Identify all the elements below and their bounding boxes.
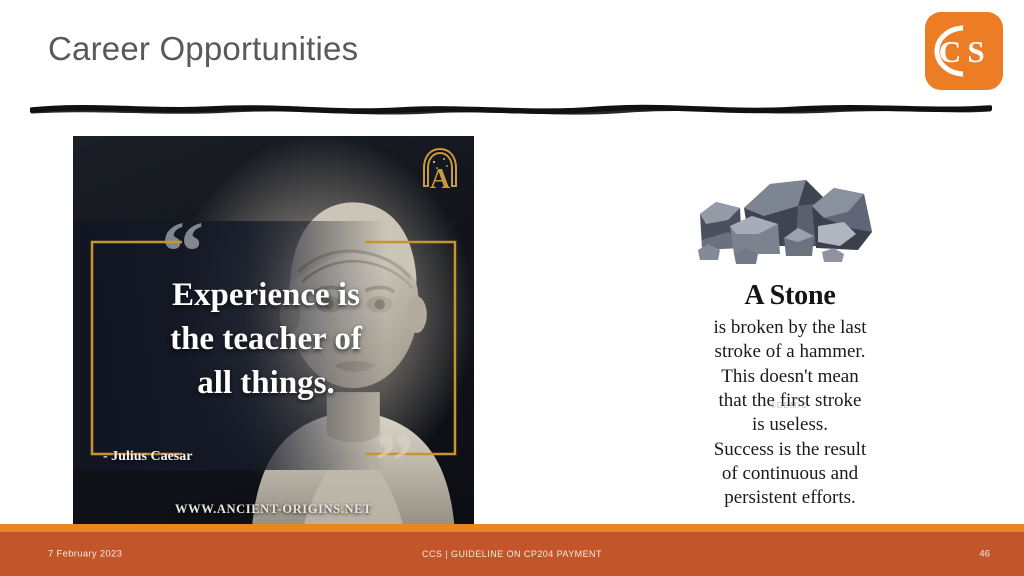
quote-author: - Julius Caesar [103,449,192,465]
watermark-text: ©DEMIC [770,401,808,410]
hand-drawn-divider [30,96,992,122]
ancient-origins-emblem-icon: A [418,144,462,194]
footer-bar: 7 February 2023 CCS | GUIDELINE ON CP204… [0,532,1024,576]
stone-line: Success is the result [660,438,920,462]
page-title: Career Opportunities [48,30,358,68]
footer-page-number: 46 [979,549,990,560]
stone-line: stroke of a hammer. [660,340,920,364]
quote-line-2: the teacher of [101,318,431,362]
stone-quote-panel: A Stone is broken by the last stroke of … [660,168,920,513]
stone-heading: A Stone [660,280,920,312]
quote-line-3: all things. [101,362,431,406]
footer-title: CCS | GUIDELINE ON CP204 PAYMENT [0,549,1024,559]
stone-line: persistent efforts. [660,486,920,510]
quote-text: Experience is the teacher of all things. [101,274,431,406]
ccs-logo[interactable]: C S [925,12,1003,90]
svg-text:C: C [939,34,961,69]
svg-text:A: A [430,164,451,194]
stone-body-text: is broken by the last stroke of a hammer… [660,316,920,511]
caesar-quote-image: A “ Experience is the teacher of all thi… [73,136,474,524]
stone-line: This doesn't mean [660,365,920,389]
stone-line: of continuous and [660,462,920,486]
stone-line: is useless. [660,413,920,437]
divider-stroke [30,96,992,122]
ccs-logo-mark: C S [925,12,1003,90]
stone-pile-icon [678,168,903,268]
footer-accent-strip [0,524,1024,532]
svg-text:S: S [967,34,984,69]
quote-line-1: Experience is [101,274,431,318]
slide-canvas: Career Opportunities C S [0,0,1024,576]
stone-line: is broken by the last [660,316,920,340]
closing-quote-mark: ” [375,422,412,500]
quote-source-url: WWW.ANCIENT-ORIGINS.NET [73,502,474,517]
